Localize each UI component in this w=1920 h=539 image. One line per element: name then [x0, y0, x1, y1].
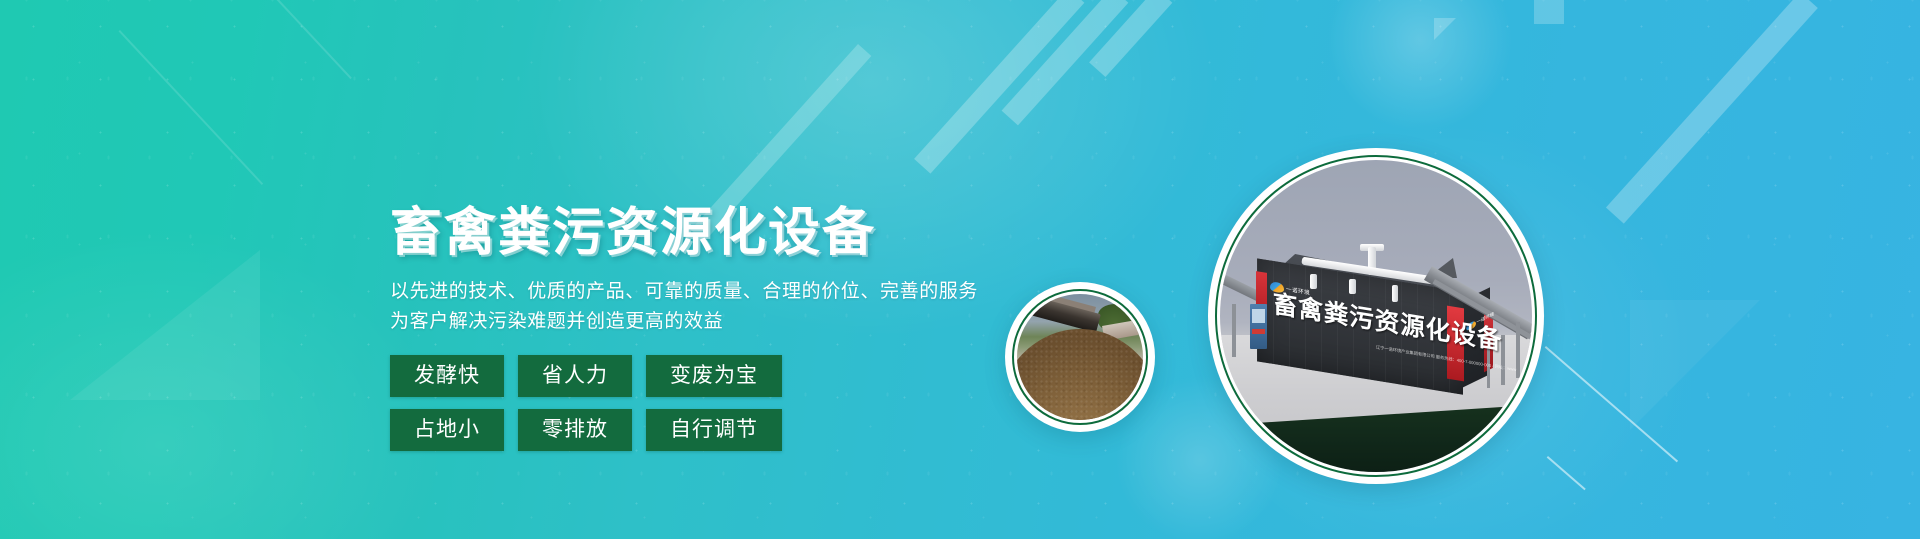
- decorative-square-accent: [1534, 0, 1564, 24]
- banner-headline: 畜禽粪污资源化设备: [390, 206, 1050, 261]
- pipe-riser-2: [1349, 279, 1356, 295]
- equipment-3d-scene: 一诺环境 一诺环境 畜禽粪污资源化设备 辽宁一诺环境产业集团有限公司 服务热线：…: [1220, 160, 1532, 472]
- subtitle-line-1: 以先进的技术、优质的产品、可靠的质量、合理的价位、完善的服务: [390, 277, 1050, 307]
- feature-tag-fermentation-speed[interactable]: 发酵快: [390, 355, 504, 397]
- feature-tag-list: 发酵快 省人力 变废为宝 占地小 零排放 自行调节: [390, 355, 810, 451]
- decorative-triangle-bottom-right: [1630, 300, 1760, 430]
- decorative-stripe-group-3: [1089, 0, 1172, 77]
- banner-copy-block: 畜禽粪污资源化设备 以先进的技术、优质的产品、可靠的质量、合理的价位、完善的服务…: [390, 206, 1050, 451]
- conveyor-leg-2: [1516, 322, 1520, 378]
- light-bloom-spark-upper-right: [1320, 0, 1520, 140]
- equipment-render-photo: 一诺环境 一诺环境 畜禽粪污资源化设备 辽宁一诺环境产业集团有限公司 服务热线：…: [1220, 160, 1532, 472]
- promo-banner: 畜禽粪污资源化设备 以先进的技术、优质的产品、可靠的质量、合理的价位、完善的服务…: [0, 0, 1920, 539]
- banner-subtitle: 以先进的技术、优质的产品、可靠的质量、合理的价位、完善的服务 为客户解决污染难题…: [390, 277, 1050, 337]
- control-cabinet-screen: [1252, 309, 1265, 323]
- feature-tag-waste-to-treasure[interactable]: 变废为宝: [646, 355, 782, 397]
- feature-tag-row-1: 发酵快 省人力 变废为宝: [390, 355, 810, 397]
- decorative-hairline-3: [119, 30, 263, 185]
- compost-pile-circle[interactable]: [1005, 282, 1155, 432]
- light-bloom-left: [0, 230, 440, 539]
- feature-tag-labor-saving[interactable]: 省人力: [518, 355, 632, 397]
- subtitle-line-2: 为客户解决污染难题并创造更高的效益: [390, 307, 1050, 337]
- decorative-hairline-4: [269, 0, 352, 79]
- decorative-stripe-right: [1606, 0, 1818, 224]
- left-conveyor-leg-1: [1232, 304, 1235, 357]
- decorative-triangle-left: [70, 250, 260, 400]
- decorative-stripe-group-1: [914, 0, 1084, 174]
- decorative-triangle-accent: [1434, 18, 1456, 40]
- feature-tag-small-footprint[interactable]: 占地小: [390, 409, 504, 451]
- feature-tag-zero-emission[interactable]: 零排放: [518, 409, 632, 451]
- decorative-hairline-2: [1547, 456, 1586, 490]
- control-cabinet: [1250, 304, 1267, 349]
- decorative-hairline-1: [1545, 346, 1678, 462]
- compost-pile-photo: [1017, 294, 1143, 420]
- decorative-stripe-group-2: [1002, 0, 1129, 125]
- compost-material-pile: [1017, 329, 1143, 420]
- control-cabinet-indicator: [1252, 329, 1265, 334]
- pipe-riser-3: [1392, 285, 1399, 302]
- equipment-render-circle[interactable]: 一诺环境 一诺环境 畜禽粪污资源化设备 辽宁一诺环境产业集团有限公司 服务热线：…: [1208, 148, 1544, 484]
- feature-tag-self-adjusting[interactable]: 自行调节: [646, 409, 782, 451]
- feature-tag-row-2: 占地小 零排放 自行调节: [390, 409, 810, 451]
